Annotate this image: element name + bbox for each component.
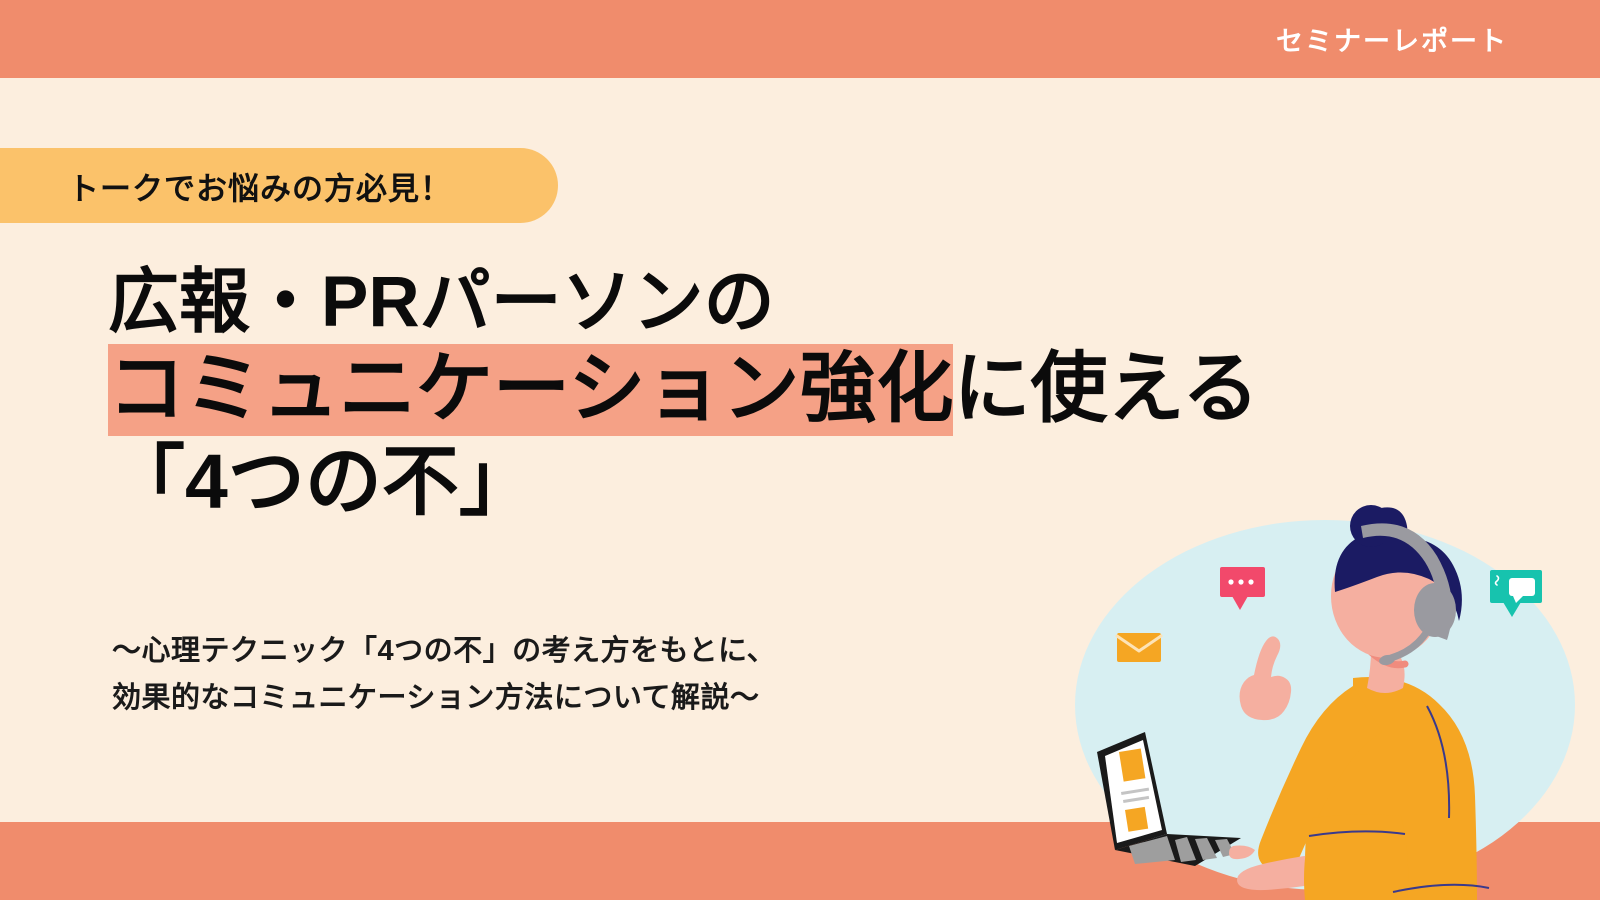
header-label: セミナーレポート: [1276, 20, 1508, 59]
subtitle: 〜心理テクニック「4つの不」の考え方をもとに、 効果的なコミュニケーション方法に…: [112, 628, 776, 722]
seminar-report-slide: セミナーレポート トークでお悩みの方必見！ 広報・PRパーソンの コミュニケーシ…: [0, 0, 1600, 900]
person-sleeve-cuff: [1304, 814, 1408, 900]
illustration-person-with-headset-at-laptop: [1035, 500, 1600, 900]
envelope-icon: [1117, 633, 1161, 662]
subtitle-line-1: 〜心理テクニック「4つの不」の考え方をもとに、: [112, 628, 776, 675]
headline-line-2-rest: に使える: [953, 346, 1259, 432]
headline-highlight: コミュニケーション強化: [108, 344, 953, 436]
headline-line-1: 広報・PRパーソンの: [108, 262, 1259, 344]
subtitle-line-2: 効果的なコミュニケーション方法について解説〜: [112, 675, 776, 722]
badge-pill: トークでお悩みの方必見！: [0, 148, 558, 223]
headline-line-3: 「4つの不」: [108, 438, 1259, 527]
header-band: セミナーレポート: [0, 0, 1600, 78]
headline-line-2: コミュニケーション強化に使える: [108, 345, 1259, 434]
headset-earcup: [1414, 583, 1456, 637]
page-title: 広報・PRパーソンの コミュニケーション強化に使える 「4つの不」: [108, 262, 1259, 527]
badge-label: トークでお悩みの方必見！: [68, 163, 452, 208]
